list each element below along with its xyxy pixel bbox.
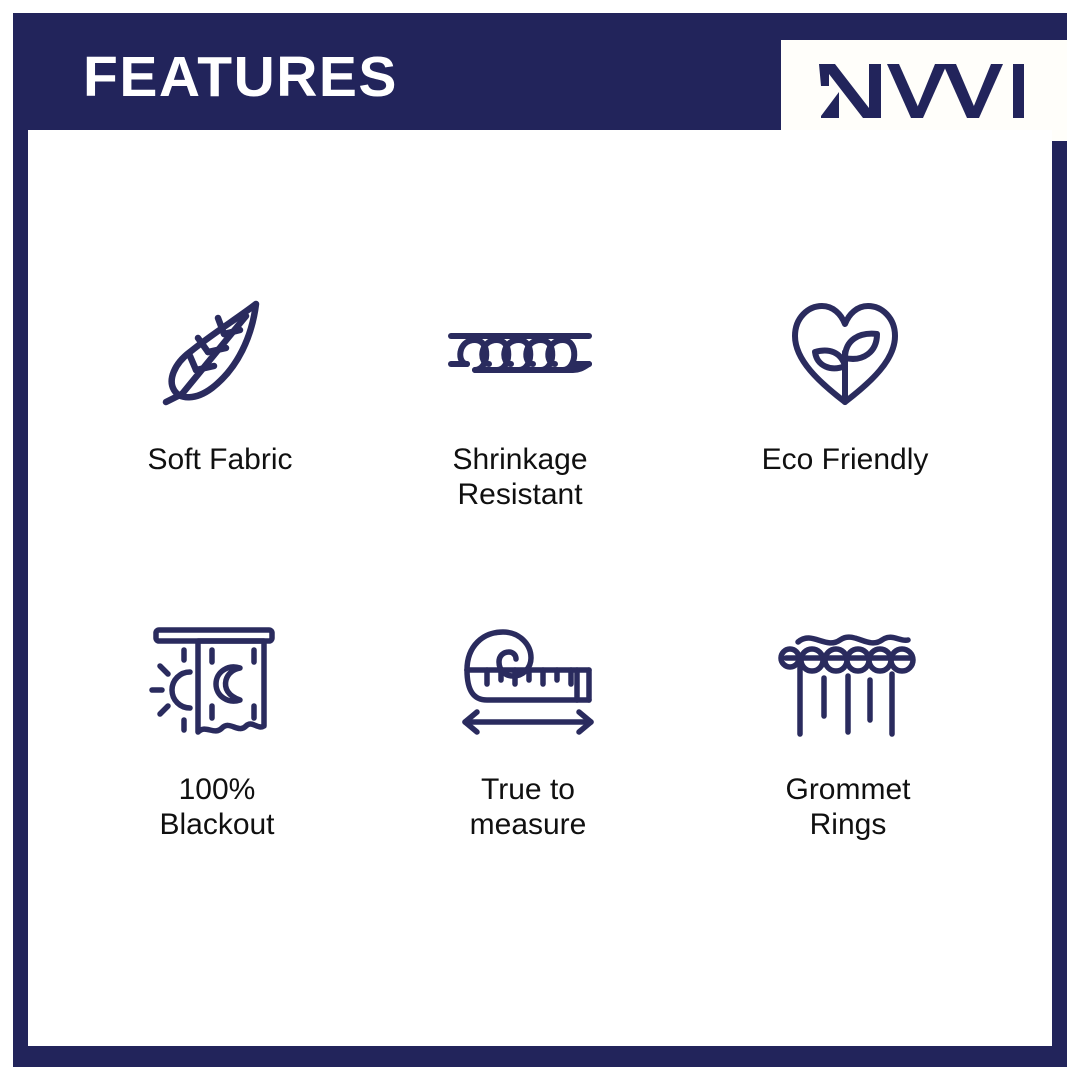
feather-icon — [160, 290, 280, 420]
logo-box — [781, 40, 1067, 141]
feature-label: Eco Friendly — [762, 442, 929, 477]
feature-label: Soft Fabric — [147, 442, 292, 477]
feature-grid: Soft Fabric — [28, 130, 1052, 1046]
curtain-sun-moon-icon — [142, 620, 292, 750]
page-title: FEATURES — [83, 49, 398, 106]
navi-logo-icon — [817, 60, 1032, 122]
feature-item-blackout: 100% Blackout — [67, 620, 367, 842]
features-infographic: FEATURES — [0, 0, 1080, 1080]
feature-item-true-to-measure: True to measure — [378, 620, 678, 842]
feature-item-shrinkage-resistant: Shrinkage Resistant — [370, 290, 670, 512]
measuring-tape-icon — [453, 620, 603, 750]
grommet-rings-icon — [778, 620, 918, 750]
feature-label: 100% Blackout — [159, 772, 274, 842]
feature-label: Shrinkage Resistant — [452, 442, 587, 512]
feature-item-grommet-rings: Grommet Rings — [698, 620, 998, 842]
feature-item-eco-friendly: Eco Friendly — [695, 290, 995, 477]
feature-item-soft-fabric: Soft Fabric — [70, 290, 370, 477]
feature-label: Grommet Rings — [785, 772, 910, 842]
header-bar: FEATURES — [13, 13, 1067, 130]
heart-sprout-icon — [785, 290, 905, 420]
twisted-rope-icon — [445, 290, 595, 420]
feature-label: True to measure — [470, 772, 587, 842]
